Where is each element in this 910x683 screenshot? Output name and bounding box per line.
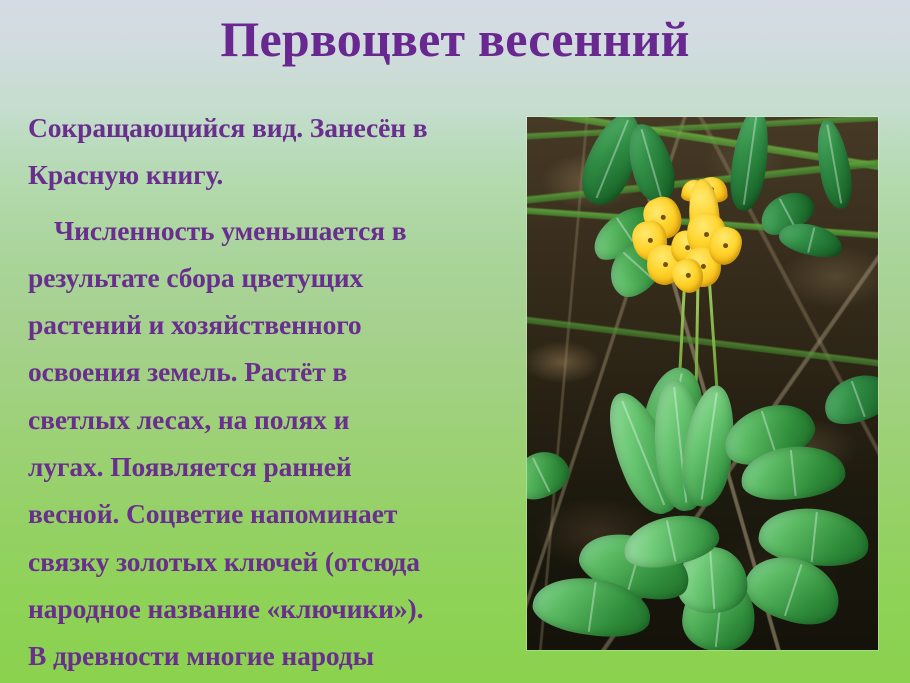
text-line: результате сбора цветущих [28, 262, 363, 293]
flower-center [685, 272, 691, 278]
text-line: Численность уменьшается в [54, 215, 406, 246]
flower-center [722, 242, 728, 248]
plant-photo: Первоцвет весенний (примула) — жёлтые цв… [527, 117, 878, 650]
body-text-block: Сокращающийся вид. Занесён в Красную кни… [28, 104, 498, 683]
flower-center [662, 261, 667, 266]
text-line: весной. Соцветие напоминает [28, 498, 397, 529]
text-line: освоения земель. Растёт в [28, 356, 347, 387]
flower-center [647, 237, 653, 243]
text-line: народное название «ключики»). [28, 593, 423, 624]
flower-center [703, 231, 708, 236]
text-line: Красную книгу. [28, 159, 223, 190]
text-line: Сокращающийся вид. Занесён в [28, 112, 428, 143]
text-line: растений и хозяйственного [28, 309, 362, 340]
paragraph-1: Сокращающийся вид. Занесён в Красную кни… [28, 104, 498, 199]
text-line: лугах. Появляется ранней [28, 451, 352, 482]
slide-root: Первоцвет весенний Сокращающийся вид. За… [0, 0, 910, 683]
flower-center [659, 214, 666, 221]
text-line: В древности многие народы [28, 640, 374, 671]
paragraph-2: Численность уменьшается в результате сбо… [28, 207, 498, 683]
page-title: Первоцвет весенний [0, 8, 910, 70]
text-line: связку золотых ключей (отсюда [28, 546, 420, 577]
text-line: светлых лесах, на полях и [28, 404, 349, 435]
